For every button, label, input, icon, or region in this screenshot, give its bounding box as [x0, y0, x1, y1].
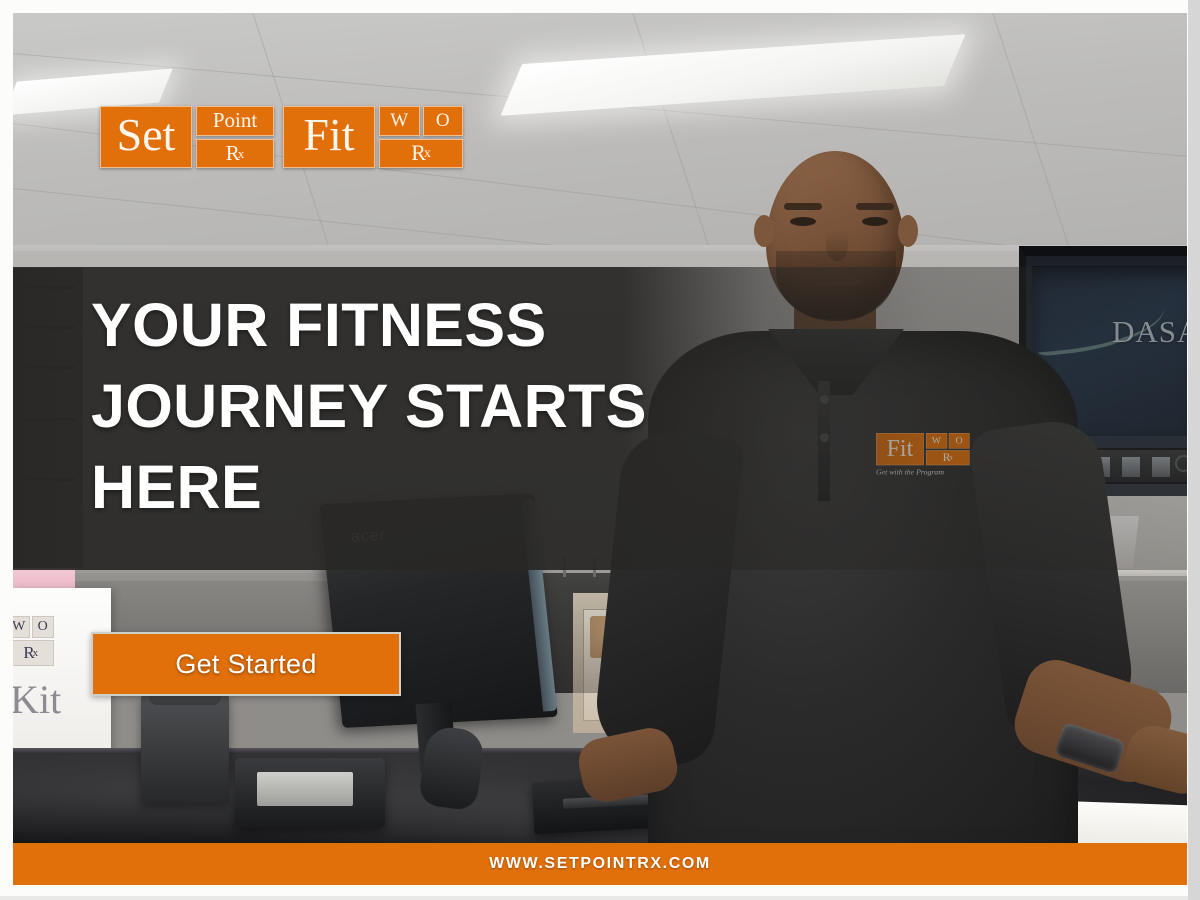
logo-o-box: O [423, 106, 464, 136]
headline-line-2: JOURNEY STARTS [91, 366, 731, 447]
headline-line-3: HERE [91, 447, 731, 528]
eye [790, 217, 816, 226]
ceiling-light-panel [500, 34, 965, 116]
fitkit-w-cell: W [13, 616, 30, 638]
logo-worx-rx-box: Rx [379, 139, 463, 169]
fitkit-rx-cell: Rx [13, 640, 54, 666]
eye [862, 217, 888, 226]
eyebrow [856, 203, 894, 210]
logo-rx-box: Rx [196, 139, 274, 169]
footer-bar: WWW.SETPOINTRX.COM [13, 843, 1187, 885]
logo-point-box: Point [196, 106, 274, 136]
barcode-scanner [141, 693, 229, 803]
fitworx-lockup: Fit W O Rx [283, 106, 463, 168]
ear [898, 215, 918, 247]
page-canvas: DASANI [0, 0, 1200, 900]
fitkit-o-cell: O [32, 616, 54, 638]
website-url[interactable]: WWW.SETPOINTRX.COM [489, 855, 711, 873]
hero-banner: DASANI [13, 13, 1187, 885]
brand-logo[interactable]: Set Point Rx Fit W O Rx [100, 106, 463, 168]
fitkit-label: tKit [13, 676, 61, 723]
ear [754, 215, 774, 247]
logo-w-box: W [379, 106, 420, 136]
logo-set-box: Set [100, 106, 192, 168]
eyebrow [784, 203, 822, 210]
setpointrx-lockup: Set Point Rx [100, 106, 274, 168]
card-reader-terminal [235, 758, 385, 828]
get-started-label: Get Started [175, 649, 316, 680]
get-started-button[interactable]: Get Started [91, 632, 401, 696]
page-title: YOUR FITNESS JOURNEY STARTS HERE [91, 285, 731, 528]
logo-fit-box: Fit [283, 106, 375, 168]
headline-line-1: YOUR FITNESS [91, 285, 731, 366]
